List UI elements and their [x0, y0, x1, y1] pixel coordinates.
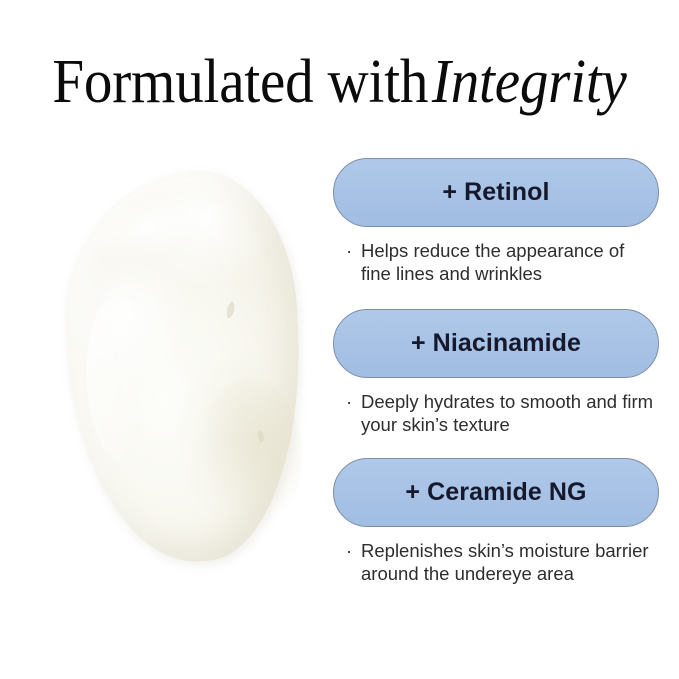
ingredient-badge-retinol[interactable]: + Retinol [333, 158, 659, 227]
swatch-shadow-right [195, 376, 307, 531]
ingredient-badge-label: + Retinol [442, 178, 549, 207]
ingredient-item-ceramide-ng: + Ceramide NG ·Replenishes skin’s moistu… [333, 458, 659, 585]
ingredient-badge-niacinamide[interactable]: + Niacinamide [333, 309, 659, 378]
page-title: Formulated withIntegrity [27, 46, 652, 118]
swatch-highlight-left [82, 293, 163, 467]
ingredient-description-text: Replenishes skin’s moisture barrier arou… [361, 540, 649, 584]
swatch-fleck-upper [225, 301, 236, 319]
bullet-icon: · [346, 539, 352, 562]
ingredient-description-text: Helps reduce the appearance of fine line… [361, 240, 624, 284]
ingredient-badge-ceramide-ng[interactable]: + Ceramide NG [333, 458, 659, 527]
ingredient-badge-label: + Ceramide NG [405, 478, 586, 507]
swatch-fleck-lower [256, 430, 265, 443]
ingredient-description-retinol: ·Helps reduce the appearance of fine lin… [333, 239, 659, 285]
ingredient-list: + Retinol ·Helps reduce the appearance o… [333, 158, 659, 585]
swatch-highlight-top [88, 180, 221, 277]
ingredient-description-ceramide-ng: ·Replenishes skin’s moisture barrier aro… [333, 539, 659, 585]
ingredient-badge-label: + Niacinamide [411, 329, 581, 358]
page-title-italic: Integrity [428, 48, 626, 116]
ingredient-item-retinol: + Retinol ·Helps reduce the appearance o… [333, 158, 659, 285]
cream-swatch-shape [58, 166, 310, 568]
bullet-icon: · [346, 390, 352, 413]
ingredient-item-niacinamide: + Niacinamide ·Deeply hydrates to smooth… [333, 309, 659, 436]
bullet-icon: · [346, 239, 352, 262]
page-title-roman: Formulated with [52, 48, 428, 116]
promo-graphic: Formulated withIntegrity + Retinol ·Help… [0, 0, 679, 679]
ingredient-description-niacinamide: ·Deeply hydrates to smooth and firm your… [333, 390, 659, 436]
ingredient-description-text: Deeply hydrates to smooth and firm your … [361, 391, 653, 435]
cream-swatch [60, 168, 310, 566]
